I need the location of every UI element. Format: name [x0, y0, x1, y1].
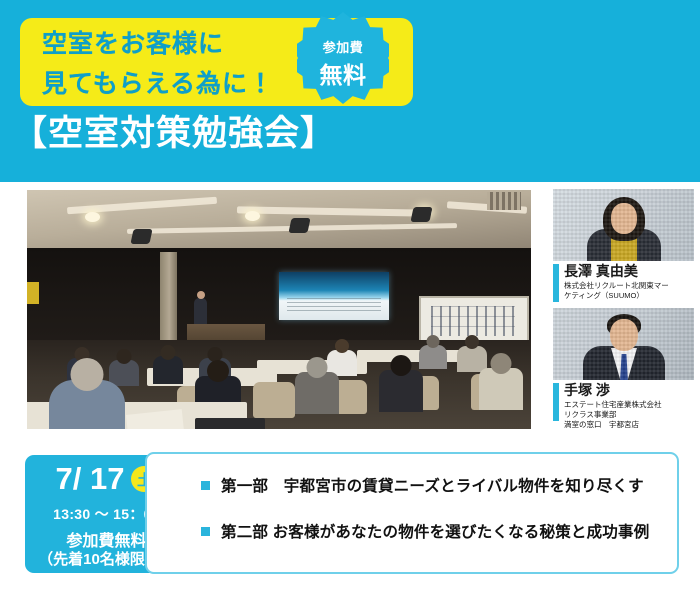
flyer-header: 空室をお客様に 見てもらえる為に！ 参加費 無料 【空室対策勉強会】 — [0, 0, 700, 182]
audience-person — [109, 360, 139, 386]
wall-sign — [27, 282, 39, 304]
program-box: 第一部 宇都宮市の賃貸ニーズとライバル物件を知り尽くす 第二部 お客様があなたの… — [145, 452, 679, 574]
program-item-2: 第二部 お客様があなたの物件を選びたくなる秘策と成功事例 — [201, 520, 649, 542]
audience-person — [419, 345, 447, 369]
program-item-label: 第二部 お客様があなたの物件を選びたくなる秘策と成功事例 — [221, 520, 649, 542]
ceiling-vent — [487, 192, 521, 210]
pillar — [160, 252, 177, 340]
program-item-label: 第一部 宇都宮市の賃貸ニーズとライバル物件を知り尽くす — [221, 474, 644, 496]
speaker-name-row-1: 長澤 真由美 株式会社リクルート北関東マー ケティング（SUUMO） — [553, 263, 694, 302]
stage-light — [410, 207, 432, 222]
audience-person — [153, 356, 183, 384]
speaker-name: 長澤 真由美 — [564, 263, 669, 279]
program-list: 第一部 宇都宮市の賃貸ニーズとライバル物件を知り尽くす 第二部 お客様があなたの… — [201, 474, 649, 566]
fee-badge-main-label: 無料 — [297, 56, 389, 90]
projector-screen — [279, 272, 389, 320]
ceiling-spotlight — [245, 211, 260, 221]
event-date: 7/ 17 — [56, 461, 125, 497]
square-bullet-icon — [201, 481, 210, 490]
speaker-name: 手塚 渉 — [564, 382, 662, 398]
stage-light — [288, 218, 310, 233]
stage-light — [130, 229, 152, 244]
fee-badge-top-label: 参加費 — [297, 37, 389, 56]
tablet-device — [195, 418, 265, 429]
ceiling-band — [237, 206, 427, 216]
page-title: 【空室対策勉強会】 — [12, 112, 336, 156]
male-speaker-portrait — [553, 308, 694, 380]
portrait-pixelation — [553, 308, 694, 380]
audience-person-front — [379, 370, 423, 412]
audience-person-front — [479, 368, 523, 410]
free-admission-badge: 参加費 無料 — [297, 12, 389, 104]
ceiling-spotlight — [85, 212, 100, 222]
ceiling — [27, 190, 531, 252]
speaker-organization: エステート住宅産業株式会社 リクラス事業部 満室の窓口 宇都宮店 — [564, 400, 662, 430]
program-item-1: 第一部 宇都宮市の賃貸ニーズとライバル物件を知り尽くす — [201, 474, 649, 496]
audience-person — [457, 346, 487, 372]
portrait-pixelation — [553, 189, 694, 261]
headline-text: 空室をお客様に 見てもらえる為に！ — [42, 24, 312, 104]
audience-chair — [253, 382, 295, 418]
audience-person-front — [295, 372, 339, 414]
foreground-person — [49, 380, 125, 429]
seminar-hall-photo — [27, 190, 531, 429]
speaker-name-row-2: 手塚 渉 エステート住宅産業株式会社 リクラス事業部 満室の窓口 宇都宮店 — [553, 382, 694, 430]
square-bullet-icon — [201, 527, 210, 536]
speaker-organization: 株式会社リクルート北関東マー ケティング（SUUMO） — [564, 281, 669, 301]
female-speaker-portrait — [553, 189, 694, 261]
